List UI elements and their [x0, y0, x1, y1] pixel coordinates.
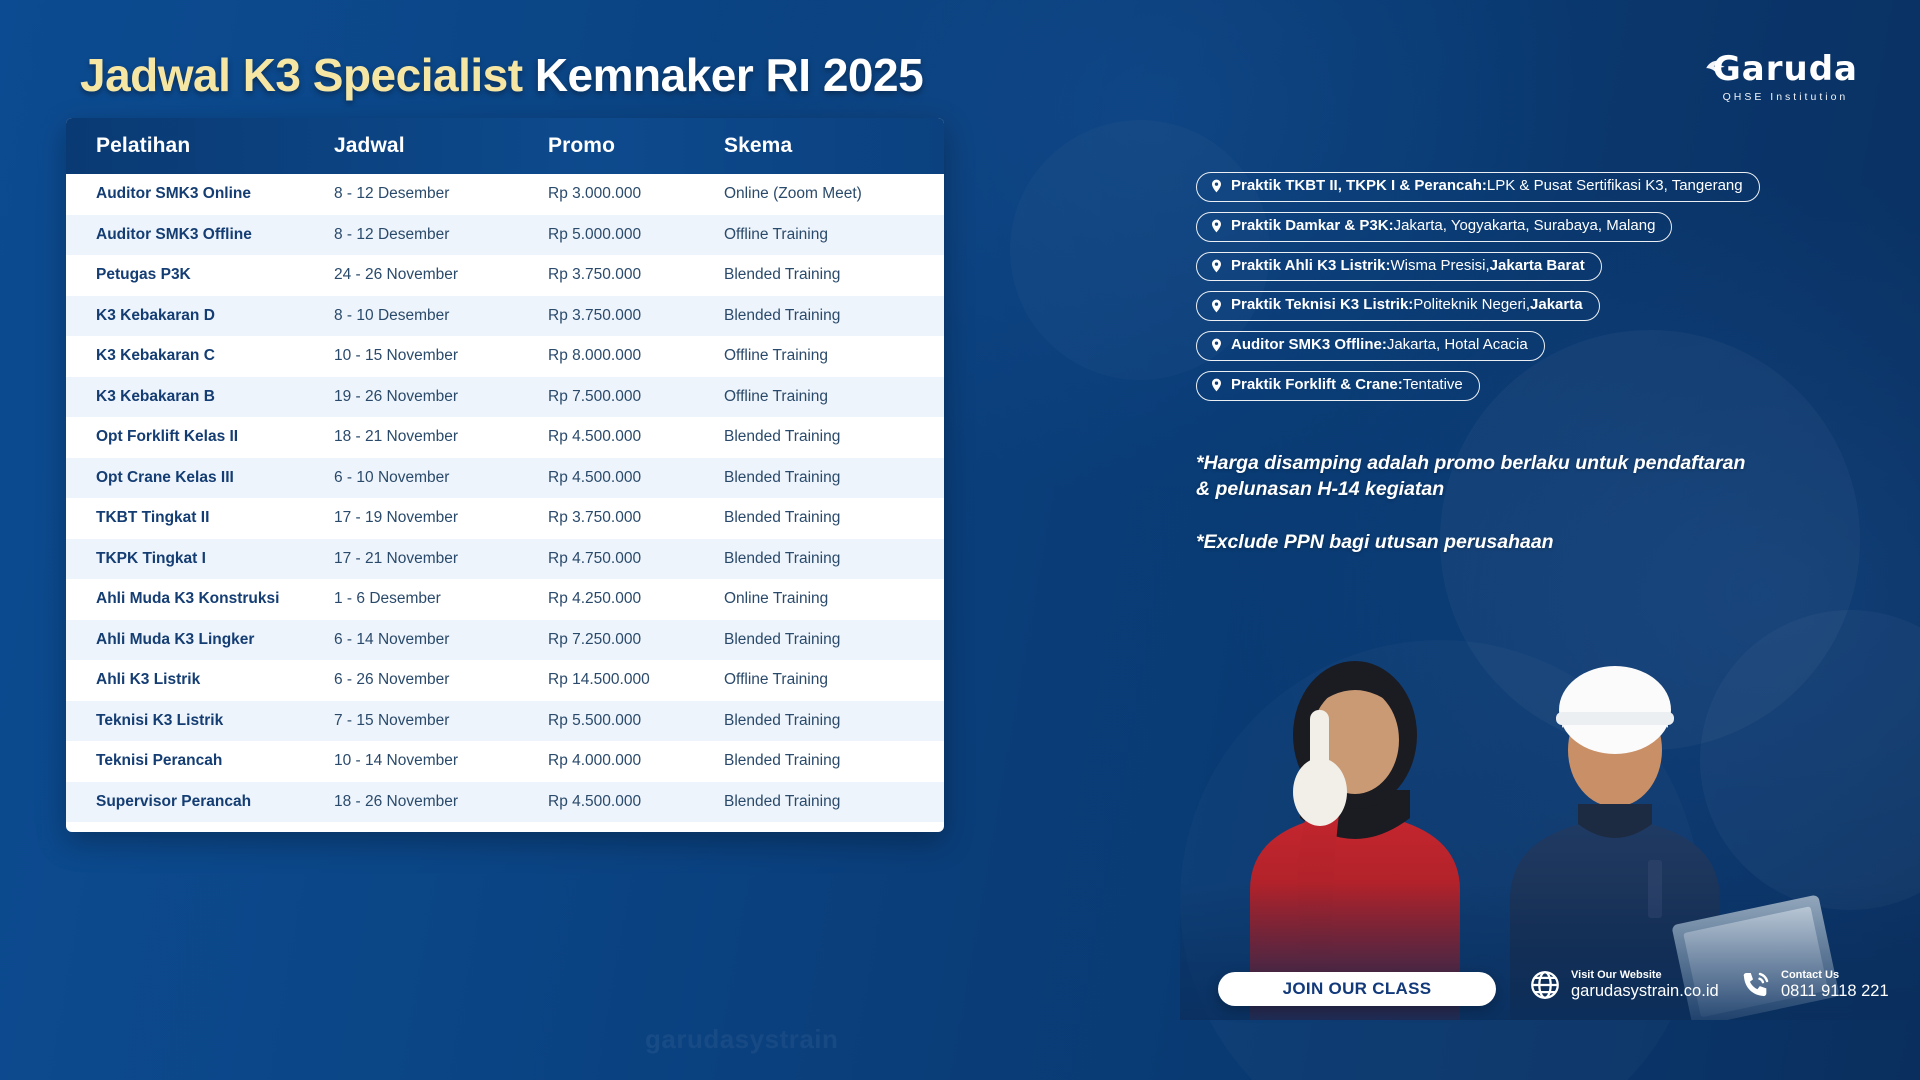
cell-promo: Rp 4.000.000 — [548, 752, 724, 770]
cell-skema: Offline Training — [724, 347, 944, 365]
cell-promo: Rp 3.750.000 — [548, 266, 724, 284]
cell-pelatihan: Auditor SMK3 Offline — [66, 226, 334, 244]
cell-pelatihan: Ahli K3 Listrik — [66, 671, 334, 689]
cell-promo: Rp 4.500.000 — [548, 793, 724, 811]
cell-jadwal: 6 - 14 November — [334, 631, 548, 649]
cell-promo: Rp 7.250.000 — [548, 631, 724, 649]
column-header-jadwal: Jadwal — [334, 134, 548, 158]
location-pill-label: Auditor SMK3 Offline: — [1231, 336, 1387, 355]
phone-contact[interactable]: Contact Us 0811 9118 221 — [1738, 968, 1889, 1002]
website-label: Visit Our Website — [1571, 969, 1719, 981]
location-pill-label: Praktik Damkar & P3K: — [1231, 217, 1394, 236]
cell-skema: Offline Training — [724, 226, 944, 244]
cell-promo: Rp 4.750.000 — [548, 550, 724, 568]
cell-promo: Rp 3.000.000 — [548, 185, 724, 203]
people-illustration — [1180, 560, 1920, 1020]
website-value: garudasystrain.co.id — [1571, 982, 1719, 1002]
table-body: Auditor SMK3 Online8 - 12 DesemberRp 3.0… — [66, 174, 944, 822]
schedule-table-card: Pelatihan Jadwal Promo Skema Auditor SMK… — [66, 118, 944, 832]
cell-pelatihan: Teknisi Perancah — [66, 752, 334, 770]
cell-pelatihan: K3 Kebakaran B — [66, 388, 334, 406]
cell-skema: Blended Training — [724, 266, 944, 284]
page-title: Jadwal K3 Specialist Kemnaker RI 2025 — [80, 48, 923, 102]
cell-jadwal: 18 - 26 November — [334, 793, 548, 811]
table-row: Auditor SMK3 Online8 - 12 DesemberRp 3.0… — [66, 174, 944, 215]
location-pill: Praktik Forklift & Crane: Tentative — [1196, 371, 1480, 401]
cell-jadwal: 6 - 26 November — [334, 671, 548, 689]
cell-skema: Online (Zoom Meet) — [724, 185, 944, 203]
cell-skema: Blended Training — [724, 509, 944, 527]
brand-logo: Garuda QHSE Institution — [1713, 52, 1858, 103]
page-title-rest: Kemnaker RI 2025 — [523, 49, 924, 101]
cell-pelatihan: Ahli Muda K3 Konstruksi — [66, 590, 334, 608]
cell-promo: Rp 14.500.000 — [548, 671, 724, 689]
notes-block: *Harga disamping adalah promo berlaku un… — [1196, 450, 1756, 555]
location-pill-value-emphasis: Jakarta Barat — [1490, 257, 1585, 276]
location-pill-value-emphasis: Jakarta — [1530, 296, 1583, 315]
cell-promo: Rp 5.500.000 — [548, 712, 724, 730]
table-row: Ahli K3 Listrik6 - 26 NovemberRp 14.500.… — [66, 660, 944, 701]
table-row: Supervisor Perancah18 - 26 NovemberRp 4.… — [66, 782, 944, 823]
poster-canvas: Jadwal K3 Specialist Kemnaker RI 2025 Ga… — [0, 0, 1920, 1080]
note-ppn: *Exclude PPN bagi utusan perusahaan — [1196, 529, 1756, 555]
cell-pelatihan: Teknisi K3 Listrik — [66, 712, 334, 730]
table-row: Ahli Muda K3 Lingker6 - 14 NovemberRp 7.… — [66, 620, 944, 661]
contact-label: Contact Us — [1781, 969, 1889, 981]
join-our-class-label: JOIN OUR CLASS — [1283, 979, 1432, 999]
table-row: K3 Kebakaran D8 - 10 DesemberRp 3.750.00… — [66, 296, 944, 337]
cell-skema: Blended Training — [724, 712, 944, 730]
location-pill-label: Praktik Teknisi K3 Listrik: — [1231, 296, 1413, 315]
cell-jadwal: 24 - 26 November — [334, 266, 548, 284]
table-row: Ahli Muda K3 Konstruksi1 - 6 DesemberRp … — [66, 579, 944, 620]
location-pill-label: Praktik TKBT II, TKPK I & Perancah: — [1231, 177, 1487, 196]
table-row: Teknisi K3 Listrik7 - 15 NovemberRp 5.50… — [66, 701, 944, 742]
location-pill: Praktik Damkar & P3K: Jakarta, Yogyakart… — [1196, 212, 1672, 242]
map-pin-icon — [1209, 376, 1224, 394]
join-our-class-button[interactable]: JOIN OUR CLASS — [1218, 972, 1496, 1006]
cell-promo: Rp 4.500.000 — [548, 428, 724, 446]
cell-pelatihan: Supervisor Perancah — [66, 793, 334, 811]
table-row: TKBT Tingkat II17 - 19 NovemberRp 3.750.… — [66, 498, 944, 539]
cell-skema: Blended Training — [724, 469, 944, 487]
cell-jadwal: 10 - 14 November — [334, 752, 548, 770]
watermark: garudasystrain — [645, 1024, 838, 1055]
map-pin-icon — [1209, 257, 1224, 275]
cell-promo: Rp 3.750.000 — [548, 307, 724, 325]
phone-icon — [1738, 968, 1772, 1002]
cell-pelatihan: TKBT Tingkat II — [66, 509, 334, 527]
garuda-bird-icon — [1703, 54, 1729, 80]
location-pill-value: Tentative — [1403, 376, 1463, 395]
cell-skema: Blended Training — [724, 752, 944, 770]
cell-pelatihan: Ahli Muda K3 Lingker — [66, 631, 334, 649]
cell-jadwal: 10 - 15 November — [334, 347, 548, 365]
contact-value: 0811 9118 221 — [1781, 982, 1889, 1002]
cell-skema: Blended Training — [724, 307, 944, 325]
cell-pelatihan: Opt Forklift Kelas II — [66, 428, 334, 446]
cell-promo: Rp 5.000.000 — [548, 226, 724, 244]
column-header-skema: Skema — [724, 134, 944, 158]
map-pin-icon — [1209, 336, 1224, 354]
cell-promo: Rp 7.500.000 — [548, 388, 724, 406]
map-pin-icon — [1209, 177, 1224, 195]
page-title-highlight: Jadwal K3 Specialist — [80, 49, 523, 101]
cell-jadwal: 8 - 10 Desember — [334, 307, 548, 325]
website-contact[interactable]: Visit Our Website garudasystrain.co.id — [1528, 968, 1719, 1002]
logo-wordmark: Garuda — [1713, 49, 1858, 89]
trainers-photo — [1180, 560, 1920, 1020]
logo-tagline: QHSE Institution — [1713, 91, 1858, 103]
table-row: K3 Kebakaran B19 - 26 NovemberRp 7.500.0… — [66, 377, 944, 418]
table-row: K3 Kebakaran C10 - 15 NovemberRp 8.000.0… — [66, 336, 944, 377]
cell-skema: Online Training — [724, 590, 944, 608]
cell-jadwal: 18 - 21 November — [334, 428, 548, 446]
cell-skema: Offline Training — [724, 388, 944, 406]
cell-pelatihan: Petugas P3K — [66, 266, 334, 284]
cell-skema: Blended Training — [724, 631, 944, 649]
table-header-row: Pelatihan Jadwal Promo Skema — [66, 118, 944, 174]
cell-jadwal: 7 - 15 November — [334, 712, 548, 730]
map-pin-icon — [1209, 297, 1224, 315]
location-pill: Praktik Ahli K3 Listrik: Wisma Presisi, … — [1196, 252, 1602, 282]
location-pill-value: Jakarta, Hotal Acacia — [1387, 336, 1528, 355]
cell-pelatihan: Opt Crane Kelas III — [66, 469, 334, 487]
cell-skema: Blended Training — [724, 428, 944, 446]
location-pill-value: Jakarta, Yogyakarta, Surabaya, Malang — [1394, 217, 1656, 236]
cell-jadwal: 8 - 12 Desember — [334, 226, 548, 244]
note-promo: *Harga disamping adalah promo berlaku un… — [1196, 450, 1756, 503]
globe-icon — [1528, 968, 1562, 1002]
cell-jadwal: 17 - 19 November — [334, 509, 548, 527]
cell-jadwal: 17 - 21 November — [334, 550, 548, 568]
location-pill: Praktik Teknisi K3 Listrik: Politeknik N… — [1196, 291, 1600, 321]
cell-skema: Offline Training — [724, 671, 944, 689]
cell-promo: Rp 4.250.000 — [548, 590, 724, 608]
location-pill: Auditor SMK3 Offline: Jakarta, Hotal Aca… — [1196, 331, 1545, 361]
table-row: Opt Forklift Kelas II18 - 21 NovemberRp … — [66, 417, 944, 458]
cell-skema: Blended Training — [724, 793, 944, 811]
cell-pelatihan: K3 Kebakaran C — [66, 347, 334, 365]
location-pill: Praktik TKBT II, TKPK I & Perancah: LPK … — [1196, 172, 1760, 202]
location-pill-list: Praktik TKBT II, TKPK I & Perancah: LPK … — [1196, 172, 1896, 411]
cell-promo: Rp 3.750.000 — [548, 509, 724, 527]
table-row: Petugas P3K24 - 26 NovemberRp 3.750.000B… — [66, 255, 944, 296]
table-row: Opt Crane Kelas III6 - 10 NovemberRp 4.5… — [66, 458, 944, 499]
table-row: Auditor SMK3 Offline8 - 12 DesemberRp 5.… — [66, 215, 944, 256]
cell-jadwal: 8 - 12 Desember — [334, 185, 548, 203]
location-pill-label: Praktik Forklift & Crane: — [1231, 376, 1403, 395]
cell-promo: Rp 4.500.000 — [548, 469, 724, 487]
location-pill-value: LPK & Pusat Sertifikasi K3, Tangerang — [1487, 177, 1743, 196]
cell-pelatihan: K3 Kebakaran D — [66, 307, 334, 325]
column-header-pelatihan: Pelatihan — [66, 134, 334, 158]
cell-jadwal: 1 - 6 Desember — [334, 590, 548, 608]
cell-promo: Rp 8.000.000 — [548, 347, 724, 365]
cell-jadwal: 19 - 26 November — [334, 388, 548, 406]
cell-pelatihan: Auditor SMK3 Online — [66, 185, 334, 203]
cell-skema: Blended Training — [724, 550, 944, 568]
table-row: TKPK Tingkat I17 - 21 NovemberRp 4.750.0… — [66, 539, 944, 580]
map-pin-icon — [1209, 217, 1224, 235]
cell-jadwal: 6 - 10 November — [334, 469, 548, 487]
location-pill-label: Praktik Ahli K3 Listrik: — [1231, 257, 1391, 276]
column-header-promo: Promo — [548, 134, 724, 158]
location-pill-value: Politeknik Negeri, — [1413, 296, 1530, 315]
table-row: Teknisi Perancah10 - 14 NovemberRp 4.000… — [66, 741, 944, 782]
location-pill-value: Wisma Presisi, — [1391, 257, 1490, 276]
cell-pelatihan: TKPK Tingkat I — [66, 550, 334, 568]
